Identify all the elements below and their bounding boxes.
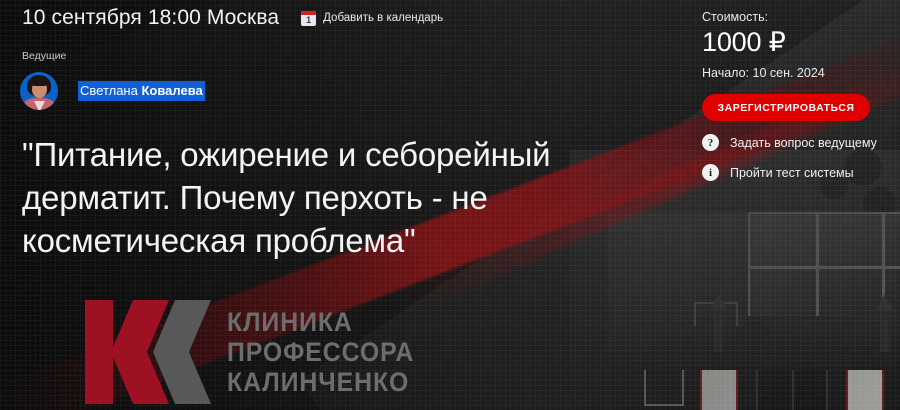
- price-value: 1000 ₽: [702, 26, 892, 58]
- host-last-name: Ковалева: [141, 83, 202, 98]
- add-to-calendar-label: Добавить в календарь: [323, 12, 443, 24]
- add-to-calendar-button[interactable]: 1 Добавить в календарь: [301, 11, 443, 26]
- ask-question-action[interactable]: ? Задать вопрос ведущему: [702, 134, 892, 151]
- hosts-label: Ведущие: [22, 50, 66, 62]
- date-bar: 10 сентября 18:00 Москва 1 Добавить в ка…: [22, 6, 443, 30]
- sidebar-panel: Стоимость: 1000 ₽ Начало: 10 сен. 2024 З…: [702, 10, 892, 181]
- system-test-action[interactable]: i Пройти тест системы: [702, 164, 892, 181]
- host-row[interactable]: Светлана Ковалева: [20, 72, 205, 110]
- logo-vertical-bar: [85, 300, 113, 404]
- host-first-name: Светлана: [80, 83, 141, 98]
- price-label: Стоимость:: [702, 10, 892, 24]
- logo-line-2: ПРОФЕССОРА: [227, 337, 414, 367]
- start-date: Начало: 10 сен. 2024: [702, 66, 892, 80]
- ask-question-label: Задать вопрос ведущему: [730, 136, 877, 150]
- calendar-icon: 1: [301, 11, 316, 26]
- info-icon: i: [702, 164, 719, 181]
- event-datetime: 10 сентября 18:00 Москва: [22, 6, 279, 30]
- calendar-icon-header: [301, 11, 316, 15]
- register-button[interactable]: ЗАРЕГИСТРИРОВАТЬСЯ: [702, 94, 870, 121]
- webinar-banner: 10 сентября 18:00 Москва 1 Добавить в ка…: [0, 0, 900, 410]
- system-test-label: Пройти тест системы: [730, 166, 854, 180]
- calendar-icon-day: 1: [306, 15, 311, 25]
- avatar-bangs: [30, 78, 49, 86]
- logo-text: КЛИНИКА ПРОФЕССОРА КАЛИНЧЕНКО: [227, 307, 414, 397]
- clinic-logo: КЛИНИКА ПРОФЕССОРА КАЛИНЧЕНКО: [85, 300, 431, 404]
- question-mark-icon: ?: [702, 134, 719, 151]
- content-layer: 10 сентября 18:00 Москва 1 Добавить в ка…: [0, 0, 900, 410]
- logo-line-1: КЛИНИКА: [227, 307, 414, 337]
- logo-line-3: КАЛИНЧЕНКО: [227, 367, 414, 397]
- host-name[interactable]: Светлана Ковалева: [78, 81, 205, 101]
- page-title: "Питание, ожирение и себорейный дерматит…: [22, 133, 642, 262]
- avatar: [20, 72, 58, 110]
- logo-mark: [85, 300, 211, 404]
